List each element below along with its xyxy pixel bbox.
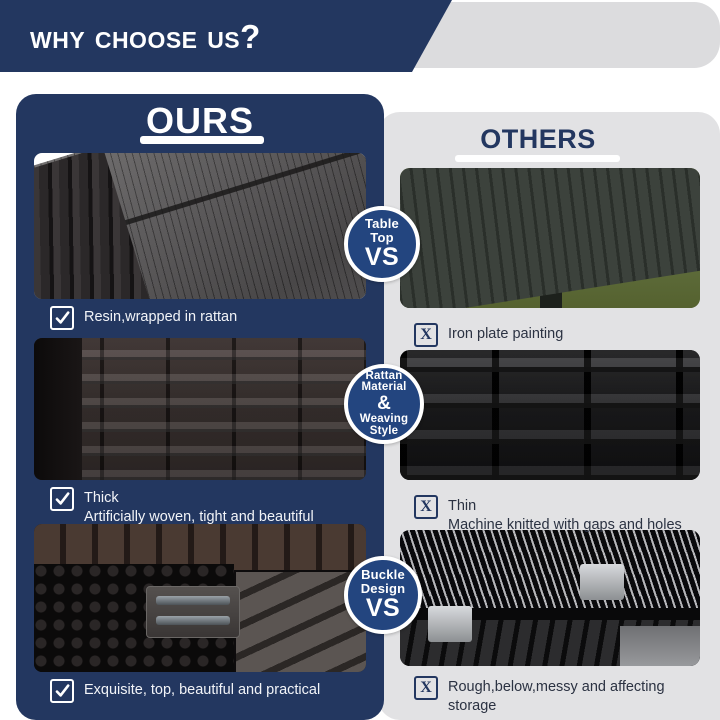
cross-icon: X [414, 676, 438, 700]
badge-buckle-design-vs: Buckle Design VS [344, 556, 422, 634]
badge-3-line1: Buckle [361, 568, 405, 582]
others-caption-1-line1: Iron plate painting [448, 325, 563, 344]
cross-icon: X [414, 495, 438, 519]
others-caption-3: X Rough,below,messy and affecting storag… [414, 678, 665, 715]
ours-caption-3: Exquisite, top, beautiful and practical [50, 681, 320, 703]
others-photo-rough-underside [400, 530, 700, 666]
badge-2-line4: Style [370, 426, 399, 438]
check-icon [50, 679, 74, 703]
ours-caption-1: Resin,wrapped in rattan [50, 308, 237, 330]
others-photo-thin-weave [400, 350, 700, 480]
page-title: Why choose us? [30, 20, 261, 53]
cross-mark: X [420, 499, 432, 515]
comparison-infographic: Why choose us? OTHERS OURS Resin,wrapped… [0, 0, 720, 720]
badge-3-line2: Design [361, 582, 406, 596]
others-title: OTHERS [378, 124, 698, 155]
others-caption-2-line1: Thin [448, 497, 682, 516]
badge-2-line3: Weaving [360, 414, 408, 426]
ours-caption-3-line1: Exquisite, top, beautiful and practical [84, 681, 320, 700]
cross-mark: X [420, 680, 432, 696]
ours-photo-rattan-weave [34, 338, 366, 480]
ours-title: OURS [16, 100, 384, 142]
badge-2-ampersand: & [377, 394, 391, 414]
others-photo-iron-table [400, 168, 700, 308]
ours-caption-2-line2: Artificially woven, tight and beautiful [84, 508, 314, 527]
check-icon [50, 487, 74, 511]
ours-caption-2-line1: Thick [84, 489, 314, 508]
others-caption-3-line1: Rough,below,messy and affecting [448, 678, 665, 697]
header-banner: Why choose us? [0, 0, 452, 72]
ours-photo-buckle [34, 524, 366, 672]
badge-1-vs: VS [365, 244, 399, 270]
ours-caption-2: Thick Artificially woven, tight and beau… [50, 489, 314, 526]
others-caption-1: X Iron plate painting [414, 325, 563, 347]
others-title-underline [455, 155, 620, 162]
badge-1-line1: Table [365, 217, 399, 231]
badge-1-line2: Top [370, 231, 393, 245]
badge-table-top-vs: Table Top VS [344, 206, 420, 282]
cross-icon: X [414, 323, 438, 347]
others-caption-2: X Thin Machine knitted with gaps and hol… [414, 497, 682, 534]
check-icon [50, 306, 74, 330]
others-caption-2-line2: Machine knitted with gaps and holes [448, 516, 682, 535]
badge-3-vs: VS [366, 595, 400, 621]
badge-rattan-material-weaving-style: Rattan Material & Weaving Style [344, 364, 424, 444]
ours-caption-1-line1: Resin,wrapped in rattan [84, 308, 237, 327]
others-caption-3-line2: storage [448, 697, 665, 716]
cross-mark: X [420, 327, 432, 343]
ours-photo-table-top [34, 153, 366, 299]
